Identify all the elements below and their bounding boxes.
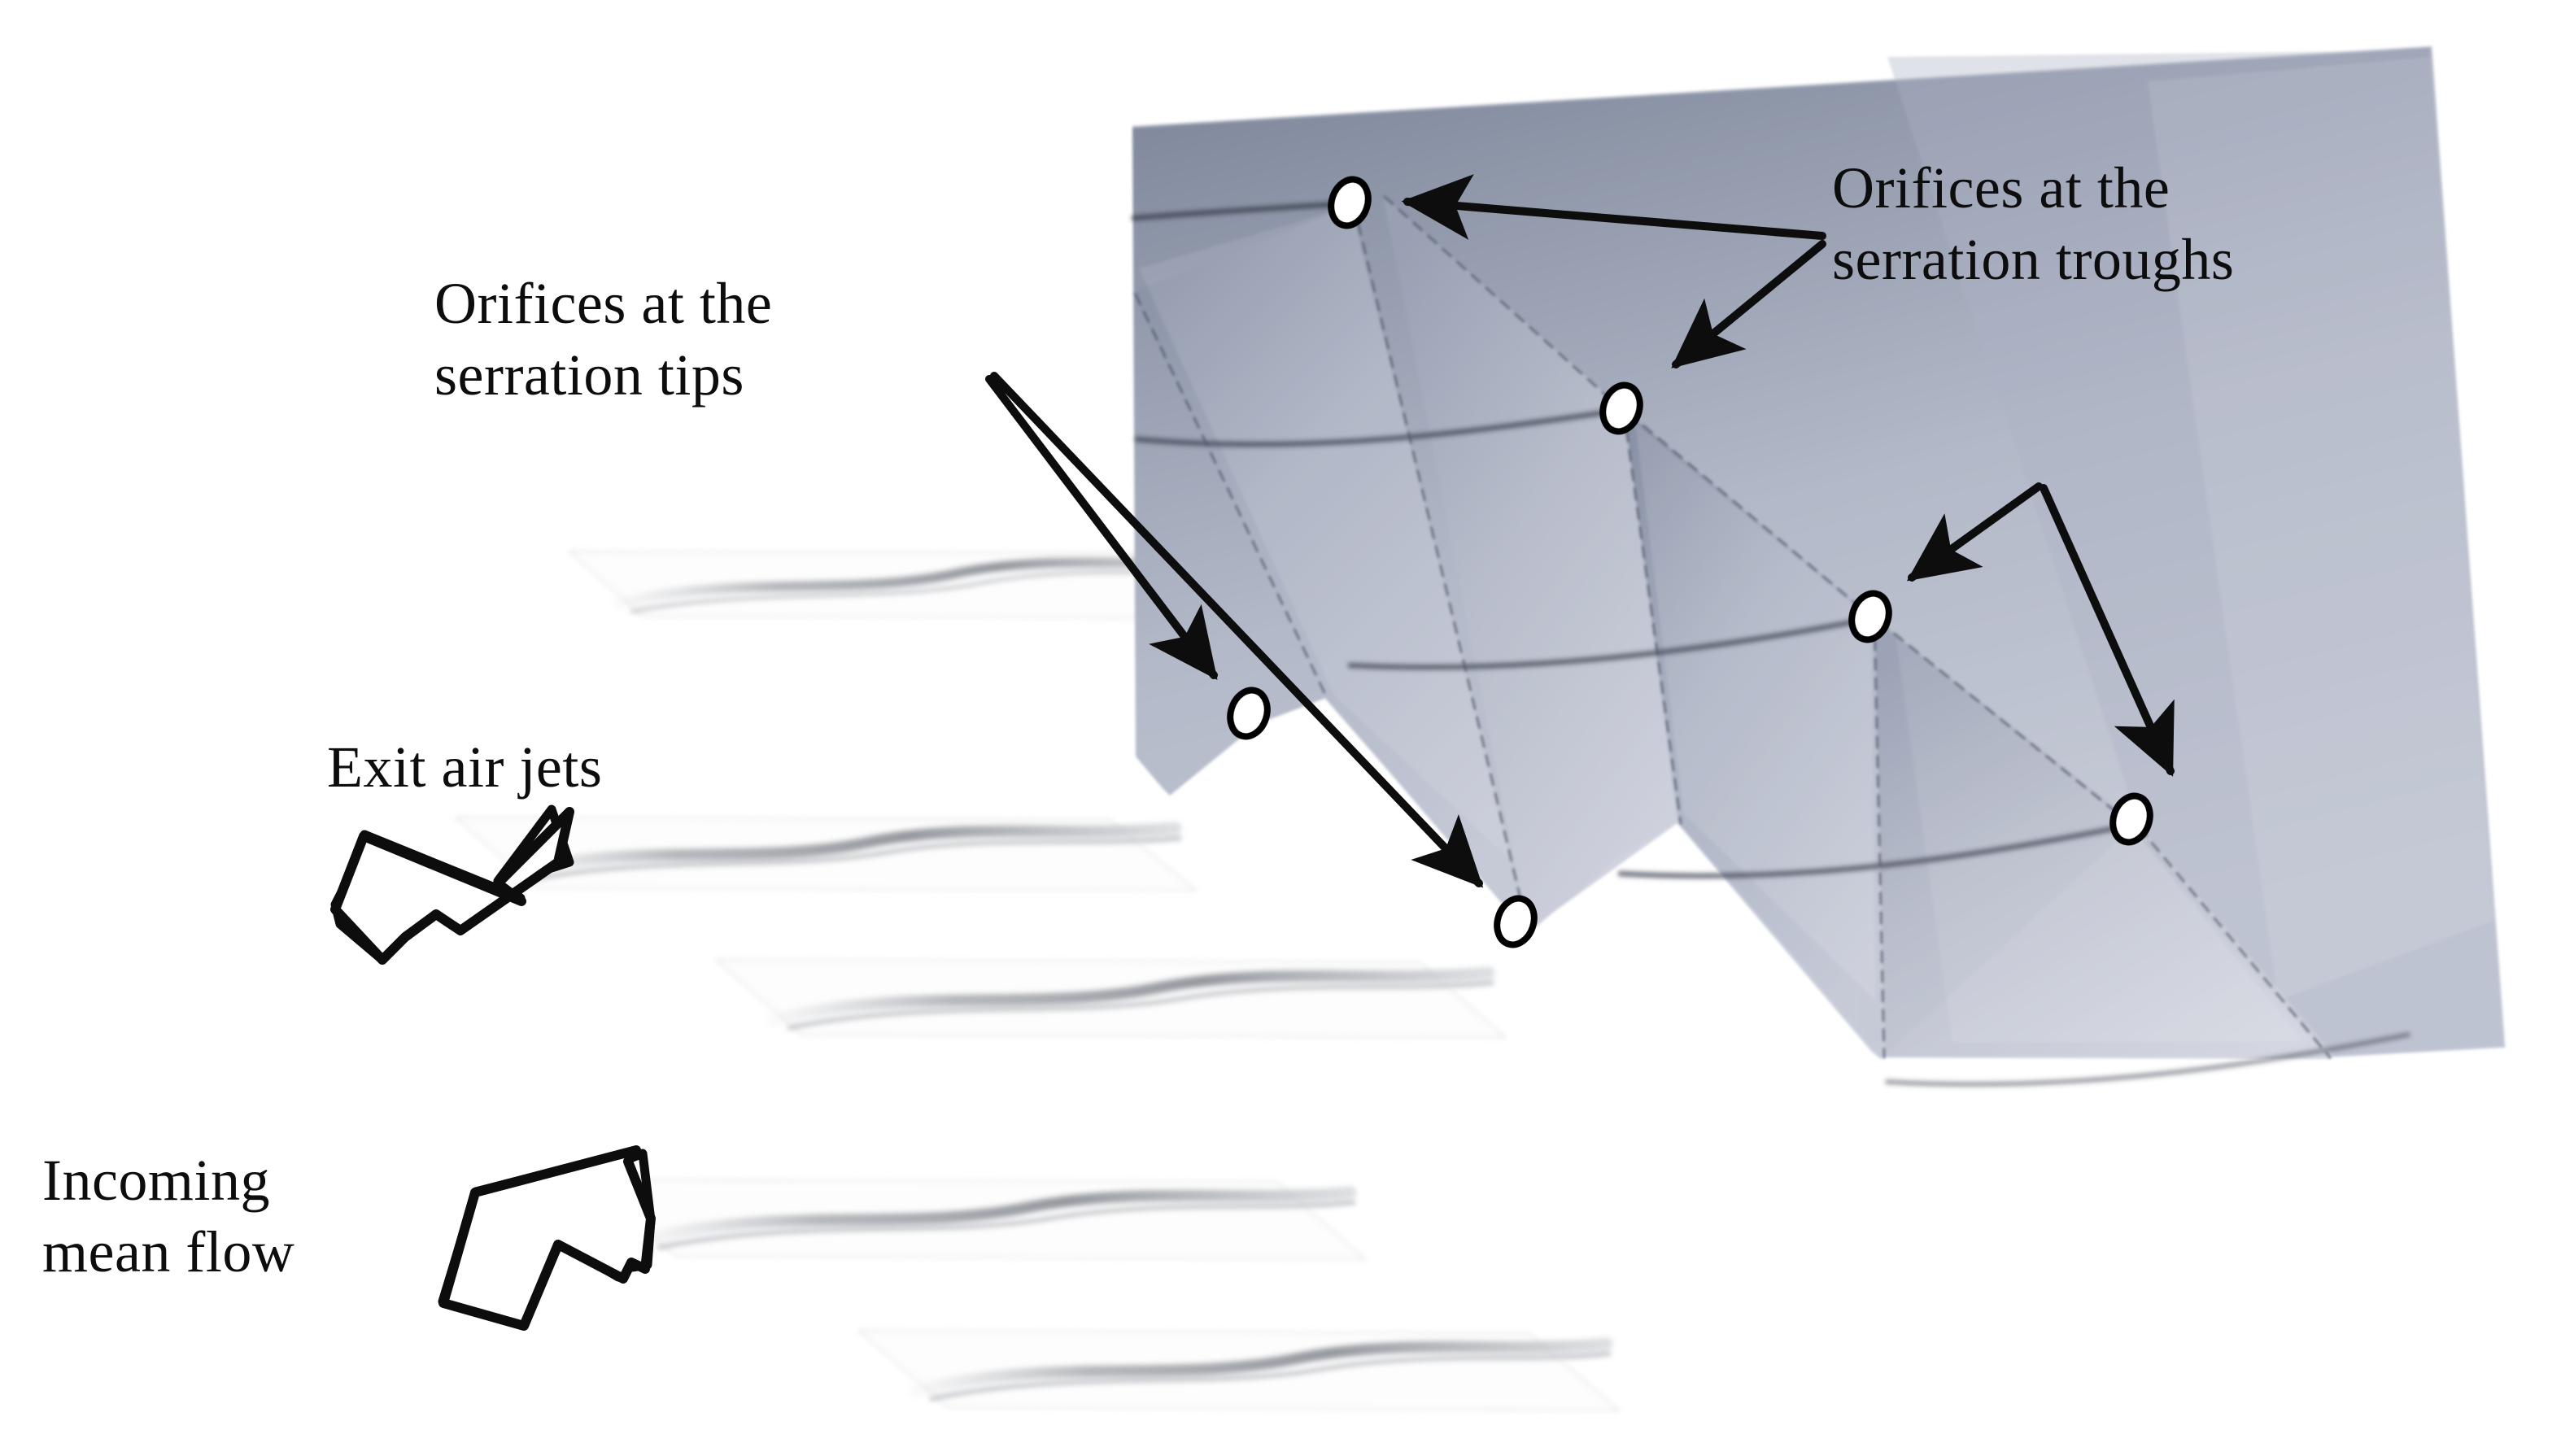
- list-item: [716, 960, 1505, 1037]
- label-exit-air-jets: Exit air jets: [327, 732, 602, 804]
- label-orifices-at-serration-tips: Orifices at the serration tips: [434, 268, 772, 412]
- figure-canvas: Orifices at the serration troughs Orific…: [0, 0, 2574, 1456]
- list-item: [858, 1331, 1619, 1410]
- list-item: [586, 1179, 1365, 1259]
- label-incoming-mean-flow: Incoming mean flow: [42, 1145, 294, 1288]
- label-orifices-at-serration-troughs: Orifices at the serration troughs: [1832, 153, 2234, 296]
- incoming-flow-arrow-shape: [443, 1150, 651, 1326]
